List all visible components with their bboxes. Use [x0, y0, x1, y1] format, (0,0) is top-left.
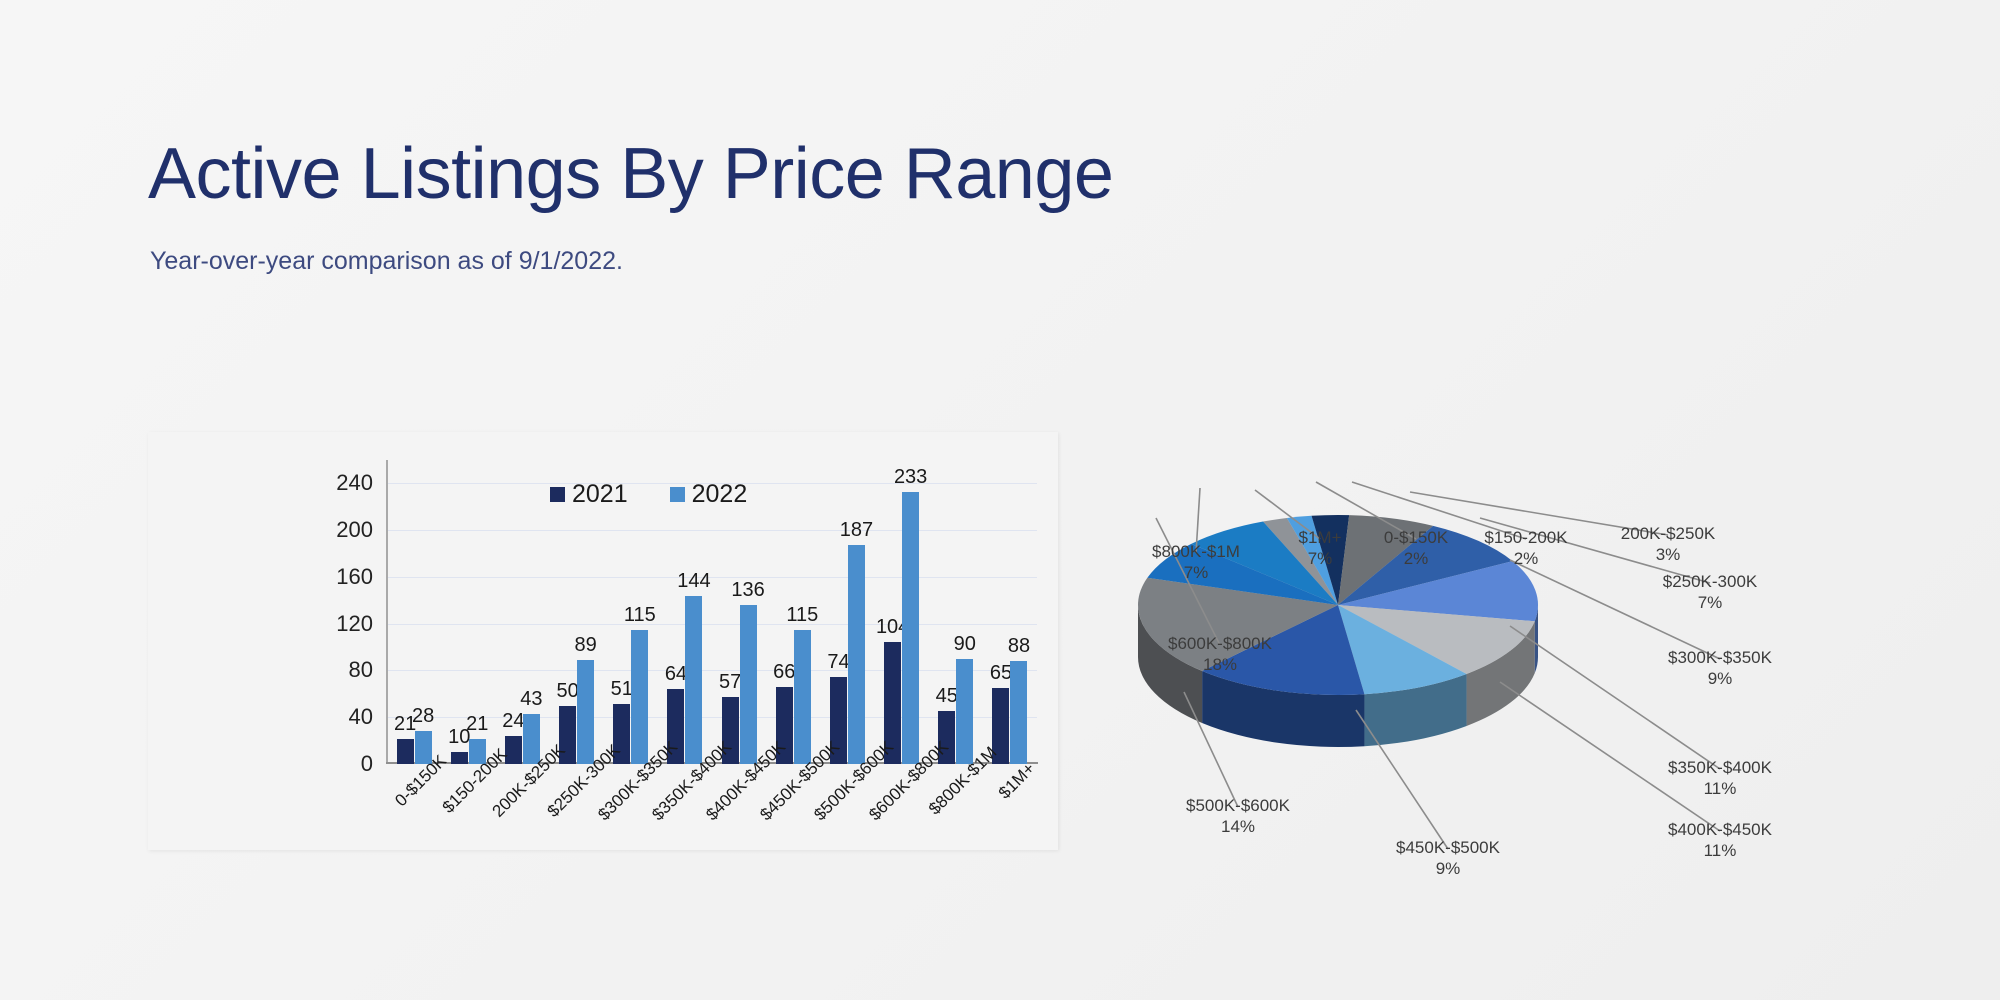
bar-2022[interactable]: 144 — [685, 596, 702, 764]
bar-group: 4590 — [929, 460, 983, 764]
pie-callout-label: $300K-$350K — [1650, 647, 1790, 668]
x-axis-tick-cell: $400K-$450K — [712, 770, 766, 880]
legend-item-2022[interactable]: 2022 — [670, 480, 748, 509]
bar-group: 66115 — [766, 460, 820, 764]
x-axis-tick-cell: 0-$150K — [387, 770, 441, 880]
y-axis-tick-labels: 04080120160200240 — [208, 460, 373, 764]
x-axis-tick-cell: $800K-$1M — [929, 770, 983, 880]
bar-value-label: 64 — [665, 663, 687, 686]
bar-value-label: 89 — [574, 634, 596, 657]
y-axis-tick: 0 — [361, 751, 373, 777]
bar-value-label: 24 — [502, 710, 524, 733]
x-axis-tick-cell: $500K-$600K — [820, 770, 874, 880]
pie-callout-value: 7% — [1640, 592, 1780, 613]
pie-callout-$450K-$500K: $450K-$500K9% — [1378, 837, 1518, 879]
bar-group: 2128 — [387, 460, 441, 764]
pie-callout-value: 3% — [1598, 544, 1738, 565]
bar-2022[interactable]: 233 — [902, 492, 919, 764]
bar-value-label: 28 — [412, 705, 434, 728]
pie-callout-$350K-$400K: $350K-$400K11% — [1650, 757, 1790, 799]
bar-value-label: 66 — [773, 661, 795, 684]
bar-2022[interactable]: 187 — [848, 545, 865, 764]
page-subtitle: Year-over-year comparison as of 9/1/2022… — [150, 247, 623, 275]
bar-group: 6588 — [983, 460, 1037, 764]
bar-value-label: 21 — [466, 713, 488, 736]
bar-2021[interactable]: 10 — [451, 752, 468, 764]
pie-callout-value: 7% — [1126, 562, 1266, 583]
bar-value-label: 74 — [827, 651, 849, 674]
pie-callout-$150-200K: $150-200K2% — [1456, 527, 1596, 569]
pie-callout-value: 11% — [1650, 778, 1790, 799]
pie-callout-value: 11% — [1650, 840, 1790, 861]
bar-2022[interactable]: 88 — [1010, 661, 1027, 764]
legend-swatch-icon-2021 — [550, 487, 565, 502]
bar-value-label: 65 — [990, 662, 1012, 685]
pie-callout-$300K-$350K: $300K-$350K9% — [1650, 647, 1790, 689]
bar-2022[interactable]: 115 — [794, 630, 811, 764]
pie-callout-label: $250K-300K — [1640, 571, 1780, 592]
bar-value-label: 88 — [1008, 635, 1030, 658]
pie-callout-$800K-$1M: $800K-$1M7% — [1126, 541, 1266, 583]
pie-callout-$250K-300K: $250K-300K7% — [1640, 571, 1780, 613]
pie-chart-panel: $1M+7%0-$150K2%$150-200K2%200K-$250K3%$2… — [1080, 430, 1960, 850]
x-axis-tick: $1M+ — [995, 759, 1040, 804]
pie-callout-label: $350K-$400K — [1650, 757, 1790, 778]
bar-value-label: 51 — [611, 678, 633, 701]
x-axis-tick-labels: 0-$150K$150-200K200K-$250K$250K-300K$300… — [387, 770, 1037, 880]
page-title: Active Listings By Price Range — [148, 136, 1113, 212]
bar-2022[interactable]: 89 — [577, 660, 594, 764]
pie-callout-value: 9% — [1650, 668, 1790, 689]
bar-2022[interactable]: 115 — [631, 630, 648, 764]
bar-value-label: 144 — [677, 570, 710, 593]
pie-callout-value: 18% — [1150, 654, 1290, 675]
bar-value-label: 50 — [556, 680, 578, 703]
x-axis-tick-cell: $450K-$500K — [766, 770, 820, 880]
bar-value-label: 115 — [786, 604, 818, 627]
x-axis-tick-cell: $600K-$800K — [875, 770, 929, 880]
y-axis-tick: 240 — [336, 470, 373, 496]
bar-value-label: 43 — [520, 688, 542, 711]
y-axis-tick: 40 — [349, 704, 373, 730]
pie-callout-label: 200K-$250K — [1598, 523, 1738, 544]
bar-value-label: 115 — [624, 604, 656, 627]
y-axis-tick: 200 — [336, 517, 373, 543]
y-axis-tick: 120 — [336, 611, 373, 637]
slide-canvas: Active Listings By Price Range Year-over… — [0, 0, 2000, 1000]
bar-2022[interactable]: 136 — [740, 605, 757, 764]
pie-callout-label: $150-200K — [1456, 527, 1596, 548]
bar-value-label: 187 — [840, 519, 873, 542]
bar-chart-legend: 2021 2022 — [550, 480, 747, 509]
bar-group: 1021 — [441, 460, 495, 764]
bar-value-label: 136 — [731, 579, 764, 602]
y-axis-tick: 160 — [336, 564, 373, 590]
pie-callout-value: 2% — [1456, 548, 1596, 569]
pie-callout-label: $400K-$450K — [1650, 819, 1790, 840]
x-axis-tick-cell: $350K-$400K — [658, 770, 712, 880]
pie-callout-label: $500K-$600K — [1168, 795, 1308, 816]
pie-callout-200K-$250K: 200K-$250K3% — [1598, 523, 1738, 565]
x-axis-tick-cell: $250K-300K — [550, 770, 604, 880]
bar-chart-panel: 04080120160200240 2128102124435089511156… — [148, 432, 1058, 850]
bar-value-label: 90 — [954, 633, 976, 656]
legend-item-2021[interactable]: 2021 — [550, 480, 628, 509]
x-axis-tick-cell: $1M+ — [983, 770, 1037, 880]
x-axis-tick-cell: $150-200K — [441, 770, 495, 880]
x-axis-tick-cell: $300K-$350K — [604, 770, 658, 880]
bar-group: 2443 — [495, 460, 549, 764]
pie-callout-label: $800K-$1M — [1126, 541, 1266, 562]
pie-callout-label: $450K-$500K — [1378, 837, 1518, 858]
y-axis-tick: 80 — [349, 657, 373, 683]
pie-callout-$500K-$600K: $500K-$600K14% — [1168, 795, 1308, 837]
pie-callout-label: $600K-$800K — [1150, 633, 1290, 654]
pie-callout-$600K-$800K: $600K-$800K18% — [1150, 633, 1290, 675]
bar-value-label: 233 — [894, 466, 927, 489]
bar-value-label: 57 — [719, 671, 741, 694]
legend-swatch-icon-2022 — [670, 487, 685, 502]
legend-label-2022: 2022 — [692, 480, 748, 509]
bar-2022[interactable]: 43 — [523, 714, 540, 764]
legend-label-2021: 2021 — [572, 480, 628, 509]
pie-callout-value: 9% — [1378, 858, 1518, 879]
bar-2022[interactable]: 90 — [956, 659, 973, 764]
bar-value-label: 45 — [936, 685, 958, 708]
bar-group: 74187 — [820, 460, 874, 764]
x-axis-tick-cell: 200K-$250K — [495, 770, 549, 880]
bar-2021[interactable]: 21 — [397, 739, 414, 764]
bar-group: 104233 — [875, 460, 929, 764]
pie-callout-value: 14% — [1168, 816, 1308, 837]
pie-callout-$400K-$450K: $400K-$450K11% — [1650, 819, 1790, 861]
